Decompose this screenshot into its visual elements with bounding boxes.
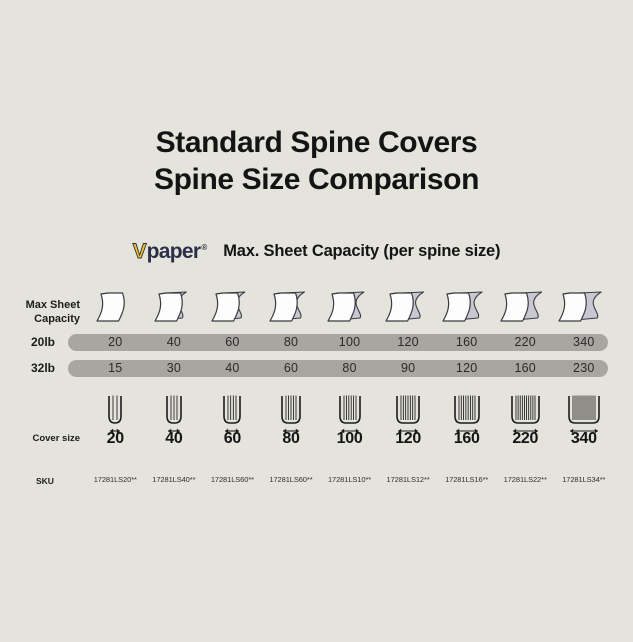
cover-size-label: Cover size: [0, 433, 80, 444]
vpaper-logo: Vpaper®: [133, 241, 208, 262]
sku-1: 17281LS40**: [145, 475, 204, 484]
registered-trademark-icon: ®: [201, 243, 207, 252]
value-32lb-7: 160: [496, 360, 555, 377]
max-sheet-capacity-label-line-2: Capacity: [0, 312, 80, 326]
page-title: Standard Spine Covers Spine Size Compari…: [0, 124, 633, 198]
sku-7: 17281LS22**: [496, 475, 555, 484]
cover-size-7: 220: [496, 430, 555, 448]
cover-size-2: 60: [203, 430, 262, 448]
cover-size-0: 20: [86, 430, 145, 448]
value-20lb-7: 220: [496, 334, 555, 351]
paper-stack-icon-3: [262, 281, 321, 327]
sku-3: 17281LS60**: [262, 475, 321, 484]
value-20lb-2: 60: [203, 334, 262, 351]
sku-2: 17281LS60**: [203, 475, 262, 484]
row-20lb-name: 20lb: [0, 334, 86, 351]
value-20lb-0: 20: [86, 334, 145, 351]
cover-size-1: 40: [145, 430, 204, 448]
row-32lb-values: 153040608090120160230: [86, 360, 613, 377]
row-32lb-name: 32lb: [0, 360, 86, 377]
cover-size-5: 120: [379, 430, 438, 448]
subtitle: Max. Sheet Capacity (per spine size): [223, 242, 500, 261]
row-20lb-values: 20406080100120160220340: [86, 334, 613, 351]
cover-size-3: 80: [262, 430, 321, 448]
sku-8: 17281LS34**: [555, 475, 614, 484]
cover-size-values: 20406080100120160220340: [86, 430, 613, 448]
paper-stack-icon-row: [86, 281, 613, 327]
logo-v-letter: V: [133, 241, 146, 262]
value-20lb-3: 80: [262, 334, 321, 351]
paper-stack-icon-5: [379, 281, 438, 327]
sku-6: 17281LS16**: [437, 475, 496, 484]
cover-size-8: 340: [555, 430, 614, 448]
paper-stack-icon-1: [145, 281, 204, 327]
value-20lb-1: 40: [145, 334, 204, 351]
value-20lb-6: 160: [437, 334, 496, 351]
brand-row: Vpaper® Max. Sheet Capacity (per spine s…: [0, 241, 633, 262]
sku-5: 17281LS12**: [379, 475, 438, 484]
value-32lb-4: 80: [320, 360, 379, 377]
max-sheet-capacity-label: Max Sheet Capacity: [0, 298, 80, 326]
value-20lb-5: 120: [379, 334, 438, 351]
value-32lb-5: 90: [379, 360, 438, 377]
cover-size-4: 100: [320, 430, 379, 448]
value-32lb-2: 40: [203, 360, 262, 377]
page-title-line-1: Standard Spine Covers: [0, 124, 633, 161]
paper-stack-icon-8: [555, 281, 614, 327]
value-32lb-6: 120: [437, 360, 496, 377]
paper-stack-icon-0: [86, 281, 145, 327]
sku-0: 17281LS20**: [86, 475, 145, 484]
sku-label: SKU: [0, 476, 80, 486]
value-32lb-1: 30: [145, 360, 204, 377]
value-32lb-0: 15: [86, 360, 145, 377]
value-32lb-3: 60: [262, 360, 321, 377]
cover-size-6: 160: [437, 430, 496, 448]
paper-stack-icon-7: [496, 281, 555, 327]
value-20lb-8: 340: [555, 334, 614, 351]
value-20lb-4: 100: [320, 334, 379, 351]
max-sheet-capacity-label-line-1: Max Sheet: [0, 298, 80, 312]
value-32lb-8: 230: [555, 360, 614, 377]
paper-stack-icon-2: [203, 281, 262, 327]
paper-stack-icon-6: [437, 281, 496, 327]
sku-4: 17281LS10**: [320, 475, 379, 484]
logo-wordmark: paper: [147, 241, 201, 262]
page-title-line-2: Spine Size Comparison: [0, 161, 633, 198]
sku-values: 17281LS20**17281LS40**17281LS60**17281LS…: [86, 475, 613, 484]
paper-stack-icon-4: [320, 281, 379, 327]
